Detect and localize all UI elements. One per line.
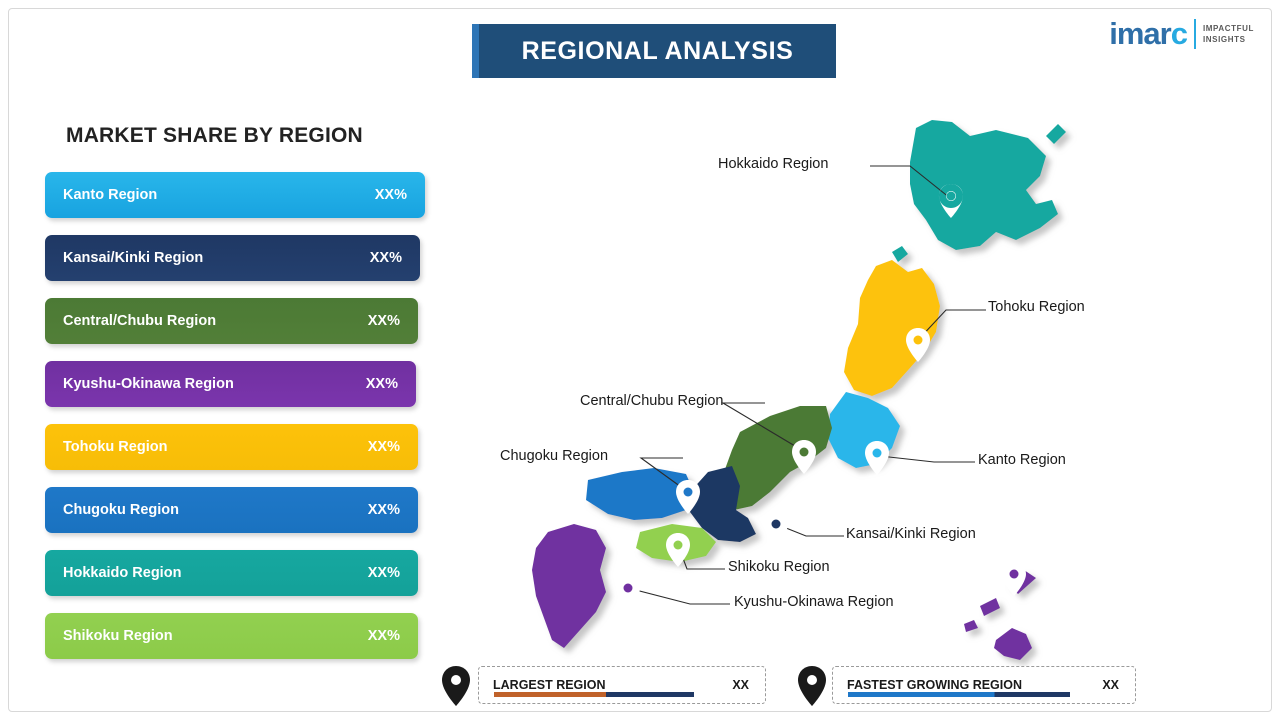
market-share-row-value: XX% xyxy=(368,313,400,329)
callout-kanto: Kanto Region xyxy=(978,452,1066,468)
pin-shikoku-icon xyxy=(666,533,690,567)
largest-region-value: XX xyxy=(732,678,749,692)
market-share-row-label: Kanto Region xyxy=(63,187,157,203)
callout-hokkaido: Hokkaido Region xyxy=(718,156,828,172)
largest-region-pin-icon xyxy=(440,664,472,708)
market-share-row[interactable]: Chugoku RegionXX% xyxy=(45,487,418,533)
largest-region-underline xyxy=(494,692,694,697)
region-tohoku xyxy=(844,260,940,396)
fastest-region-pin-icon xyxy=(796,664,828,708)
market-share-row-label: Central/Chubu Region xyxy=(63,313,216,329)
largest-region-label: LARGEST REGION xyxy=(493,678,606,692)
fastest-region-label: FASTEST GROWING REGION xyxy=(847,678,1022,692)
market-share-row[interactable]: Hokkaido RegionXX% xyxy=(45,550,418,596)
market-share-row[interactable]: Tohoku RegionXX% xyxy=(45,424,418,470)
imarc-logo: imarc IMPACTFUL INSIGHTS xyxy=(1109,16,1254,52)
fastest-region-box: FASTEST GROWING REGION XX xyxy=(832,666,1136,704)
market-share-row-label: Chugoku Region xyxy=(63,502,179,518)
market-share-row[interactable]: Central/Chubu RegionXX% xyxy=(45,298,418,344)
region-okinawa-islands xyxy=(964,570,1036,660)
market-share-row[interactable]: Kansai/Kinki RegionXX% xyxy=(45,235,420,281)
logo-tagline-1: IMPACTFUL xyxy=(1203,23,1254,34)
pin-kansai-icon xyxy=(764,512,788,546)
callout-central-chubu: Central/Chubu Region xyxy=(580,393,723,409)
largest-region-box: LARGEST REGION XX xyxy=(478,666,766,704)
pin-chubu-icon xyxy=(792,440,816,474)
logo-divider xyxy=(1194,19,1196,49)
market-share-row-value: XX% xyxy=(370,250,402,266)
market-share-row[interactable]: Kanto RegionXX% xyxy=(45,172,425,218)
market-share-row-value: XX% xyxy=(375,187,407,203)
market-share-row-label: Kyushu-Okinawa Region xyxy=(63,376,234,392)
callout-kyushu-okinawa: Kyushu-Okinawa Region xyxy=(734,594,894,610)
callout-chugoku: Chugoku Region xyxy=(500,448,608,464)
market-share-row[interactable]: Kyushu-Okinawa RegionXX% xyxy=(45,361,416,407)
pin-kyushu-icon xyxy=(616,576,640,610)
logo-tagline-2: INSIGHTS xyxy=(1203,34,1254,45)
market-share-bar-list: Kanto RegionXX%Kansai/Kinki RegionXX%Cen… xyxy=(45,172,435,676)
market-share-row-value: XX% xyxy=(368,439,400,455)
japan-map-svg xyxy=(440,100,1260,670)
market-share-row[interactable]: Shikoku RegionXX% xyxy=(45,613,418,659)
market-share-row-value: XX% xyxy=(368,565,400,581)
market-share-row-value: XX% xyxy=(368,628,400,644)
callout-kansai-kinki: Kansai/Kinki Region xyxy=(846,526,976,542)
market-share-row-label: Tohoku Region xyxy=(63,439,167,455)
market-share-row-label: Hokkaido Region xyxy=(63,565,181,581)
market-share-heading: MARKET SHARE BY REGION xyxy=(66,124,363,148)
callout-tohoku: Tohoku Region xyxy=(988,299,1085,315)
region-kyushu xyxy=(532,524,606,648)
logo-wordmark: imarc xyxy=(1109,16,1187,52)
market-share-row-label: Shikoku Region xyxy=(63,628,173,644)
callout-shikoku: Shikoku Region xyxy=(728,559,830,575)
pin-okinawa-icon xyxy=(1002,562,1026,596)
market-share-row-value: XX% xyxy=(368,502,400,518)
page-title-banner: REGIONAL ANALYSIS xyxy=(472,24,836,78)
fastest-region-value: XX xyxy=(1102,678,1119,692)
market-share-row-label: Kansai/Kinki Region xyxy=(63,250,203,266)
pin-kanto-icon xyxy=(865,441,889,475)
market-share-row-value: XX% xyxy=(366,376,398,392)
japan-map: Hokkaido Region Tohoku Region Central/Ch… xyxy=(440,100,1260,670)
region-hokkaido-islet xyxy=(892,246,908,262)
page-title: REGIONAL ANALYSIS xyxy=(522,37,794,66)
fastest-region-underline xyxy=(848,692,1070,697)
